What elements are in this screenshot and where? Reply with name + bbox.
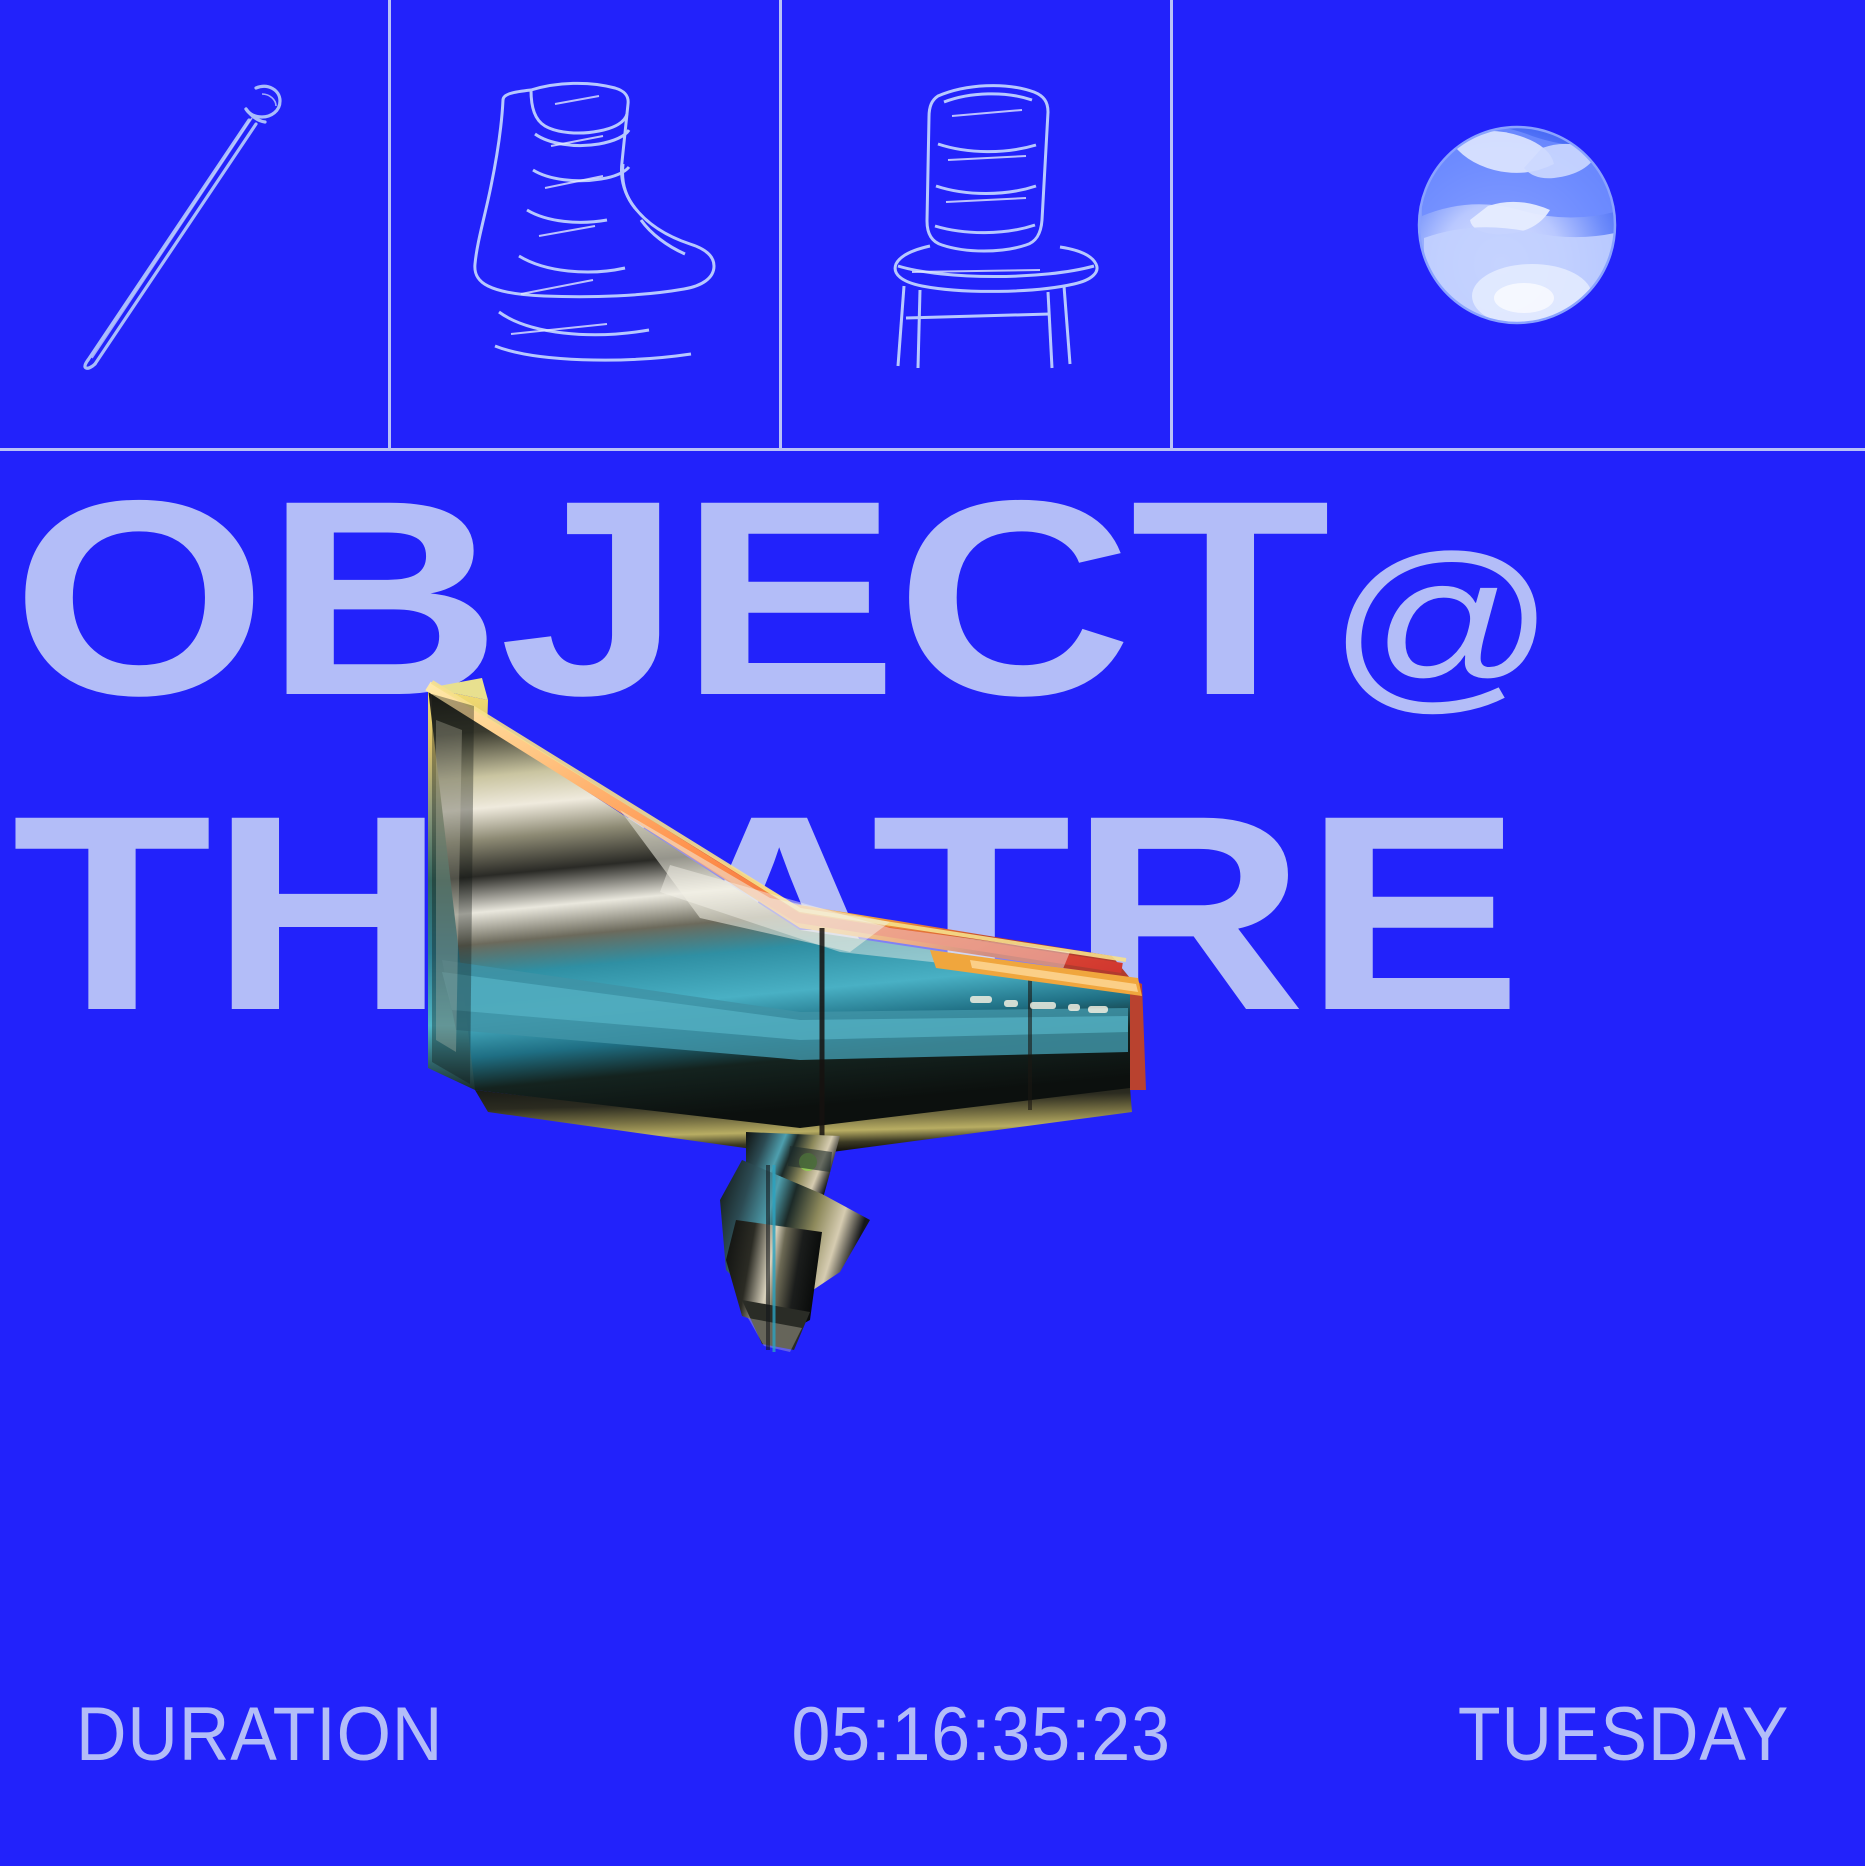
countdown-timer: 05:16:35:23 [792,1695,1172,1775]
object-cell-boot[interactable] [391,0,782,450]
poster-canvas: OBJECT@ THEATRE [0,0,1865,1866]
object-strip [0,0,1865,450]
globe-icon [1392,100,1642,350]
object-cell-cane[interactable] [0,0,391,450]
megaphone-icon [370,660,1210,1360]
grid-baseline-rule [0,448,1865,451]
footer-bar: DURATION 05:16:35:23 TUESDAY [0,1690,1865,1780]
duration-label: DURATION [76,1695,443,1775]
object-cell-chair[interactable] [782,0,1173,450]
chair-icon [826,60,1126,390]
day-label: TUESDAY [1457,1695,1789,1775]
object-cell-globe[interactable] [1173,0,1861,450]
walking-cane-icon [44,60,344,390]
at-symbol-icon: @ [1328,517,1556,729]
boot-icon [435,60,735,390]
